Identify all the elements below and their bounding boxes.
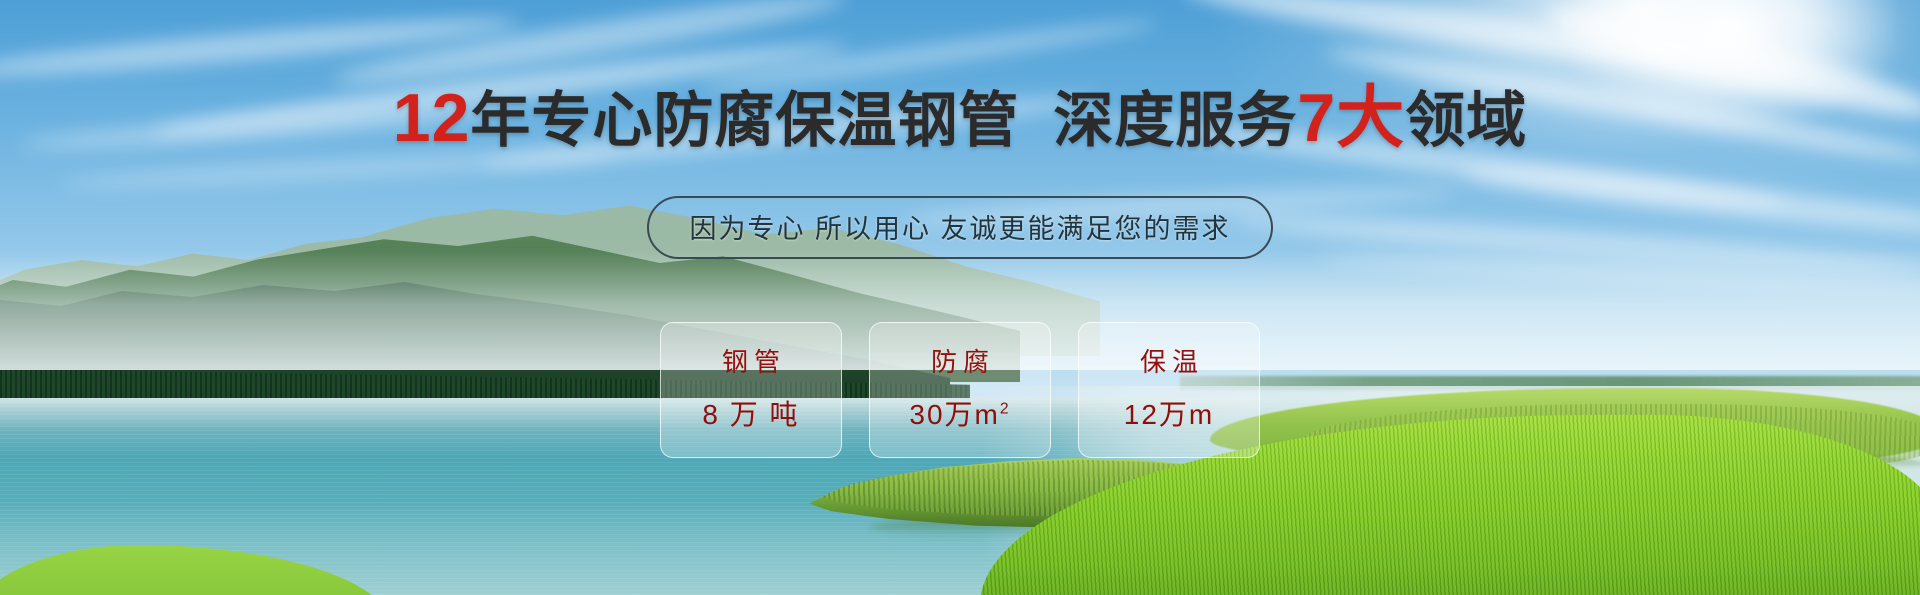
hero-banner: 12年专心防腐保温钢管深度服务7大领域 因为专心 所以用心 友诚更能满足您的需求…	[0, 0, 1920, 595]
headline-fields-suffix: 领域	[1405, 87, 1527, 154]
stat-card-label: 保温	[1134, 349, 1204, 375]
banner-content: 12年专心防腐保温钢管深度服务7大领域 因为专心 所以用心 友诚更能满足您的需求…	[0, 0, 1920, 595]
stat-card-value-base: 30万m	[909, 399, 999, 430]
subtitle-container: 因为专心 所以用心 友诚更能满足您的需求	[0, 196, 1920, 259]
stat-card-value-base: 8 万 吨	[702, 399, 799, 430]
stat-card-insulation: 保温 12万m	[1078, 322, 1260, 458]
headline-service-text: 深度服务	[1053, 87, 1297, 154]
headline-fields-number: 7	[1297, 80, 1336, 156]
stat-cards-container: 钢管 8 万 吨 防腐 30万m2 保温 12万m	[0, 322, 1920, 458]
stat-card-label: 防腐	[925, 349, 995, 375]
headline-years-number: 12	[393, 80, 471, 156]
stat-card-value: 8 万 吨	[702, 401, 799, 429]
stat-card-value: 30万m2	[909, 401, 1010, 429]
subtitle-pill: 因为专心 所以用心 友诚更能满足您的需求	[647, 196, 1272, 259]
stat-card-value: 12万m	[1124, 401, 1214, 429]
headline-main-text: 年专心防腐保温钢管	[470, 87, 1019, 154]
stat-card-steel-pipe: 钢管 8 万 吨	[660, 322, 842, 458]
headline: 12年专心防腐保温钢管深度服务7大领域	[0, 84, 1920, 152]
stat-card-label: 钢管	[716, 349, 786, 375]
stat-card-value-base: 12万m	[1124, 399, 1214, 430]
stat-card-value-superscript: 2	[1000, 401, 1011, 418]
headline-fields-unit: 大	[1336, 80, 1405, 156]
stat-card-anticorrosion: 防腐 30万m2	[869, 322, 1051, 458]
